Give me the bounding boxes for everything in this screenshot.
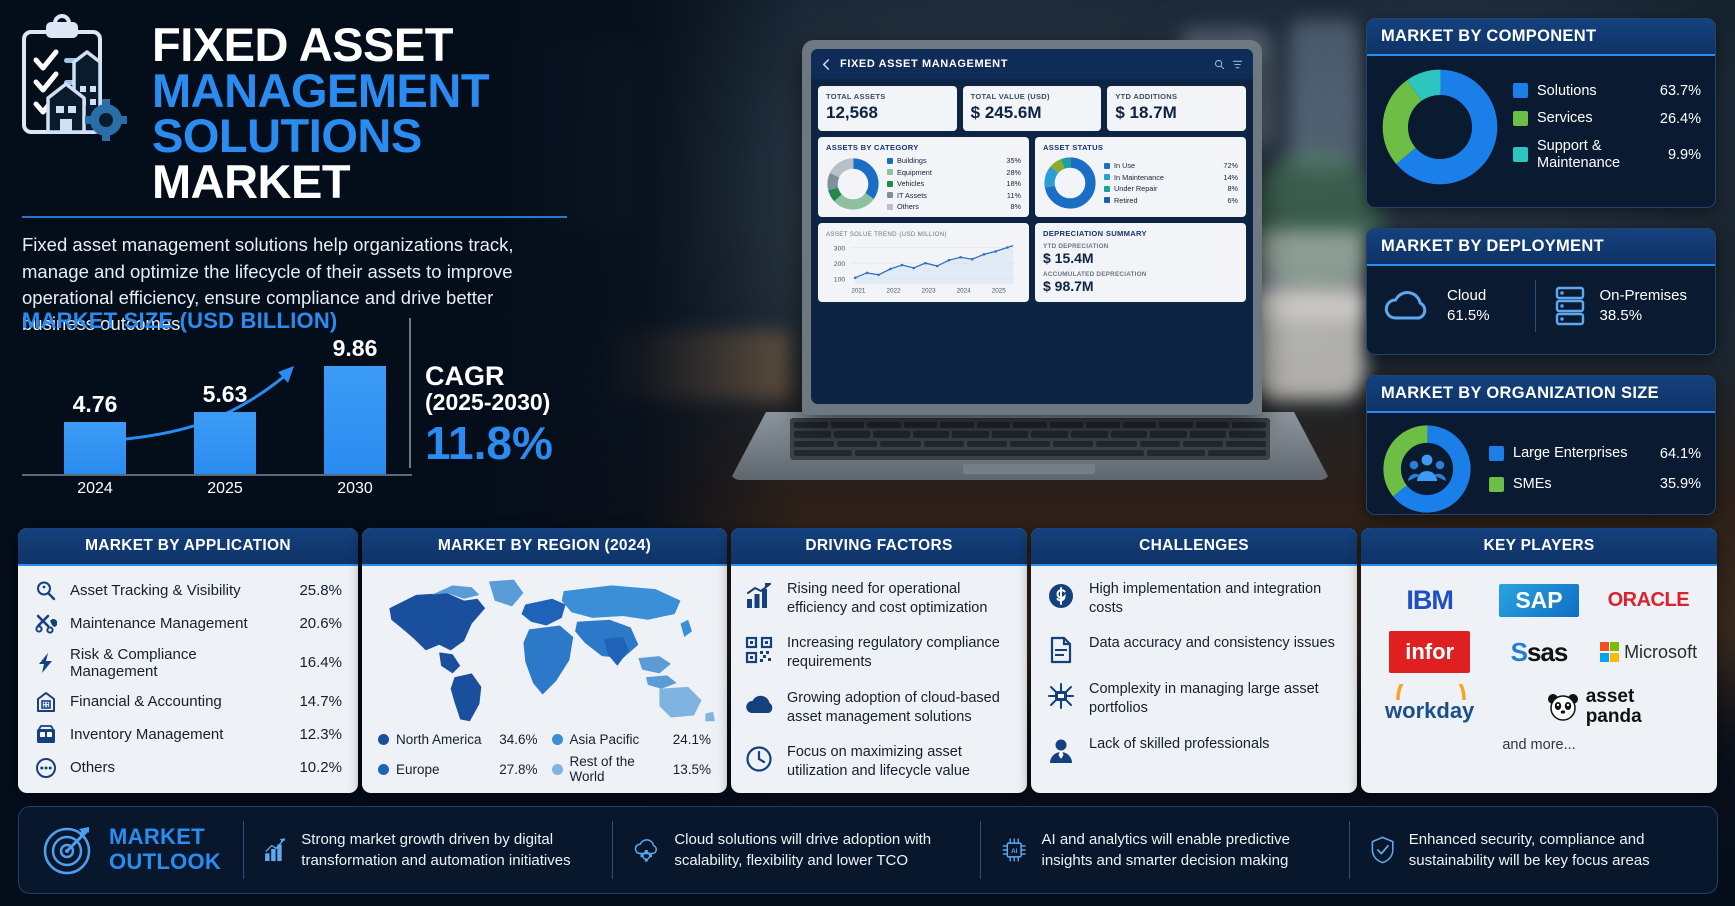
target-arrow-icon	[41, 823, 95, 877]
outlook-item: AI AI and analytics will enable predicti…	[981, 827, 1348, 873]
legend-value: 63.7%	[1660, 83, 1701, 99]
legend-item: Vehicles18%	[887, 179, 1021, 188]
challenge-row: Complexity in managing large asset portf…	[1047, 672, 1341, 726]
panel-title: ASSET STATUS	[1043, 143, 1238, 152]
legend-item: Support & Maintenance9.9%	[1513, 138, 1701, 171]
legend-item: Europe27.8%	[378, 754, 538, 784]
market-size-title: MARKET SIZE (USD BILLION)	[22, 308, 582, 334]
legend-value: 72%	[1223, 161, 1238, 170]
deployment-divider	[1535, 280, 1536, 332]
application-label: Risk & Compliance Management	[70, 646, 287, 680]
bank-building-icon	[34, 691, 58, 713]
outlook-text: Strong market growth driven by digital t…	[301, 829, 591, 872]
driving-factors-card: DRIVING FACTORS Rising need for operatio…	[731, 528, 1027, 793]
deployment-cloud: Cloud 61.5%	[1381, 286, 1531, 327]
trend-title-text: ASSET SOLUE TREND	[826, 231, 897, 238]
driving-factor-text: Growing adoption of cloud-based asset ma…	[787, 689, 1013, 727]
cagr-divider	[409, 318, 411, 468]
laptop-mockup: FIXED ASSET MANAGEMENT TOTAL ASSETS 12,5…	[720, 40, 1335, 490]
legend-label: In Use	[1114, 161, 1219, 170]
application-value: 12.3%	[299, 726, 342, 743]
outlook-brand-line2: OUTLOOK	[109, 850, 221, 875]
application-label: Maintenance Management	[70, 615, 287, 632]
legend-swatch	[1104, 174, 1110, 180]
legend-swatch	[378, 734, 389, 745]
svg-text:2022: 2022	[886, 287, 901, 294]
legend-value: 11%	[1007, 191, 1021, 200]
bar-2024	[64, 422, 126, 474]
legend-value: 8%	[1227, 184, 1238, 193]
world-map	[372, 570, 717, 728]
dashboard-body: TOTAL ASSETS 12,568 TOTAL VALUE (USD) $ …	[811, 79, 1253, 309]
challenge-text: Data accuracy and consistency issues	[1089, 634, 1341, 653]
application-row: Risk & Compliance Management 16.4%	[34, 640, 342, 685]
bar-2025	[194, 412, 256, 474]
assets-category-donut	[826, 157, 880, 211]
asset-value-trend-panel: ASSET SOLUE TREND (USD MILLION) 300 200 …	[818, 223, 1029, 302]
driving-factor-text: Increasing regulatory compliance require…	[787, 634, 1013, 672]
deployment-value: 61.5%	[1447, 306, 1490, 326]
trend-unit-text: (USD MILLION)	[899, 231, 947, 238]
laptop-keyboard	[790, 418, 1270, 460]
application-row: Maintenance Management 20.6%	[34, 607, 342, 640]
legend-item: In Maintenance14%	[1104, 173, 1238, 182]
logo-ibm: IBM	[1406, 585, 1453, 616]
legend-item: Equipment28%	[887, 168, 1021, 177]
market-size-chart: 4.76 2024 5.63 2025 9.86 2030	[22, 348, 422, 498]
svg-text:2025: 2025	[992, 287, 1007, 294]
application-row: Others 10.2%	[34, 751, 342, 784]
legend-label: Retired	[1114, 196, 1223, 205]
cagr-period: (2025-2030)	[425, 390, 553, 415]
card-title: MARKET BY DEPLOYMENT	[1367, 229, 1715, 266]
key-players-grid: IBM SAP ORACLE infor Ssas Microsoft work…	[1379, 578, 1699, 727]
bar-value-2030: 9.86	[324, 335, 386, 362]
application-row: Inventory Management 12.3%	[34, 718, 342, 751]
application-label: Financial & Accounting	[70, 693, 287, 710]
asset-status-legend: In Use72% In Maintenance14% Under Repair…	[1104, 161, 1238, 205]
challenge-text: Lack of skilled professionals	[1089, 735, 1341, 754]
legend-item: Services26.4%	[1513, 110, 1701, 127]
kpi-total-assets: TOTAL ASSETS 12,568	[818, 86, 957, 131]
market-by-deployment-card: MARKET BY DEPLOYMENT Cloud 61.5%	[1366, 228, 1716, 355]
legend-label: Buildings	[897, 156, 1002, 165]
legend-value: 13.5%	[673, 762, 711, 777]
dashboard-topbar: FIXED ASSET MANAGEMENT	[811, 49, 1253, 79]
header: FIXED ASSET MANAGEMENT SOLUTIONS MARKET …	[18, 14, 718, 337]
trend-line-chart: 300 200 100	[826, 238, 1021, 296]
network-nodes-icon	[1047, 680, 1077, 710]
logo-sas: Ssas	[1511, 637, 1568, 668]
driving-factor-row: Growing adoption of cloud-based asset ma…	[745, 681, 1013, 735]
logo-infor: infor	[1389, 631, 1470, 673]
outlook-text: Enhanced security, compliance and sustai…	[1409, 829, 1697, 872]
kpi-value: $ 245.6M	[971, 103, 1094, 123]
panel-title: ASSET SOLUE TREND (USD MILLION)	[826, 229, 1021, 238]
legend-label: Asia Pacific	[570, 732, 666, 747]
shield-check-icon	[1370, 826, 1395, 874]
people-group-icon	[1408, 451, 1446, 485]
legend-swatch	[552, 734, 563, 745]
application-value: 14.7%	[299, 693, 342, 710]
panda-icon	[1546, 692, 1580, 722]
ellipsis-circle-icon	[34, 757, 58, 779]
market-by-region-card: MARKET BY REGION (2024)	[362, 528, 727, 793]
legend-swatch	[1513, 111, 1528, 126]
cloud-gear-icon	[633, 828, 661, 872]
kpi-label: YTD ADDITIONS	[1115, 92, 1238, 101]
asset-status-panel: ASSET STATUS In Use72% In Maintenance14%	[1035, 137, 1246, 217]
card-title: MARKET BY ORGANIZATION SIZE	[1367, 376, 1715, 413]
logo-oracle: ORACLE	[1608, 589, 1689, 612]
kpi-label: TOTAL ASSETS	[826, 92, 949, 101]
svg-text:300: 300	[834, 245, 846, 252]
legend-label: Solutions	[1537, 83, 1651, 100]
outlook-item: Cloud solutions will drive adoption with…	[613, 828, 980, 872]
kpi-label: TOTAL VALUE (USD)	[971, 92, 1094, 101]
legend-label: IT Assets	[897, 191, 1003, 200]
svg-text:AI: AI	[1011, 848, 1018, 855]
panel-title: DEPRECIATION SUMMARY	[1043, 229, 1238, 238]
bar-value-2024: 4.76	[64, 391, 126, 418]
trend-panel-row: ASSET SOLUE TREND (USD MILLION) 300 200 …	[818, 223, 1246, 302]
kpi-ytd-additions: YTD ADDITIONS $ 18.7M	[1107, 86, 1246, 131]
legend-swatch	[887, 181, 893, 187]
legend-label: Equipment	[897, 168, 1002, 177]
chart-axis	[22, 474, 412, 476]
logo-microsoft: Microsoft	[1600, 642, 1698, 663]
card-title: MARKET BY APPLICATION	[18, 528, 358, 566]
legend-label: Europe	[396, 762, 492, 777]
challenge-row: Lack of skilled professionals	[1047, 727, 1341, 773]
legend-label: Services	[1537, 110, 1651, 127]
kpi-value: 12,568	[826, 103, 949, 123]
person-tie-icon	[1047, 735, 1077, 765]
svg-text:2024: 2024	[957, 287, 972, 294]
deployment-onprem: On-Premises 38.5%	[1540, 285, 1702, 327]
tools-wrench-screwdriver-icon	[34, 613, 58, 635]
legend-swatch	[887, 158, 893, 164]
accumulated-depreciation-label: ACCUMULATED DEPRECIATION	[1043, 271, 1238, 278]
page-title: FIXED ASSET MANAGEMENT SOLUTIONS MARKET	[152, 14, 718, 204]
legend-label: Rest of the World	[570, 754, 666, 784]
legend-label: Large Enterprises	[1513, 445, 1651, 462]
donut-panel-row: ASSETS BY CATEGORY Buildings35%	[818, 137, 1246, 217]
application-label: Others	[70, 759, 287, 776]
outlook-item: Enhanced security, compliance and sustai…	[1350, 826, 1717, 874]
legend-item: Solutions63.7%	[1513, 83, 1701, 100]
svg-text:2021: 2021	[851, 287, 866, 294]
legend-item: Retired6%	[1104, 196, 1238, 205]
cloud-icon	[1381, 286, 1435, 326]
title-line-3: MARKET	[152, 159, 718, 205]
legend-value: 35%	[1006, 156, 1021, 165]
legend-value: 26.4%	[1660, 111, 1701, 127]
legend-value: 35.9%	[1660, 476, 1701, 492]
component-legend: Solutions63.7% Services26.4% Support & M…	[1513, 83, 1701, 172]
key-players-more-text: and more...	[1379, 727, 1699, 753]
outlook-item: Strong market growth driven by digital t…	[244, 828, 611, 872]
driving-factor-text: Focus on maximizing asset utilization an…	[787, 743, 1013, 781]
bar-label-2024: 2024	[64, 480, 126, 498]
inventory-box-icon	[34, 724, 58, 746]
header-divider	[22, 216, 567, 218]
legend-label: SMEs	[1513, 476, 1651, 493]
bar-2030	[324, 366, 386, 474]
logo-workday: workday	[1385, 689, 1474, 724]
legend-item: IT Assets11%	[887, 191, 1021, 200]
deployment-value: 38.5%	[1600, 306, 1688, 326]
legend-value: 24.1%	[673, 732, 711, 747]
card-title: KEY PLAYERS	[1361, 528, 1717, 566]
legend-label: Vehicles	[897, 179, 1002, 188]
accumulated-depreciation-value: $ 98.7M	[1043, 278, 1238, 294]
application-row: Financial & Accounting 14.7%	[34, 685, 342, 718]
kpi-value: $ 18.7M	[1115, 103, 1238, 123]
legend-value: 9.9%	[1668, 147, 1701, 163]
qr-code-icon	[745, 634, 775, 664]
legend-value: 8%	[1010, 202, 1021, 211]
legend-label: In Maintenance	[1114, 173, 1219, 182]
legend-swatch	[887, 169, 893, 175]
market-by-application-card: MARKET BY APPLICATION Asset Tracking & V…	[18, 528, 358, 793]
cagr-value: 11.8%	[425, 418, 553, 469]
bar-label-2030: 2030	[324, 480, 386, 498]
application-value: 25.8%	[299, 582, 342, 599]
assets-category-legend: Buildings35% Equipment28% Vehicles18% IT…	[887, 156, 1021, 211]
legend-swatch	[1513, 147, 1528, 162]
server-icon	[1552, 285, 1588, 327]
legend-value: 14%	[1223, 173, 1238, 182]
magnifier-tag-icon	[34, 580, 58, 602]
dollar-coin-icon	[1047, 580, 1077, 610]
legend-label: Others	[897, 202, 1006, 211]
svg-text:2023: 2023	[922, 287, 937, 294]
legend-swatch	[1104, 163, 1110, 169]
bar-label-2025: 2025	[194, 480, 256, 498]
application-label: Inventory Management	[70, 726, 287, 743]
cloud-icon	[745, 689, 775, 717]
component-donut-chart	[1381, 68, 1499, 186]
svg-text:200: 200	[834, 261, 846, 268]
legend-value: 18%	[1006, 179, 1021, 188]
outlook-brand: MARKET OUTLOOK	[19, 823, 243, 877]
challenge-row: Data accuracy and consistency issues	[1047, 626, 1341, 672]
cagr-block: CAGR (2025-2030) 11.8%	[425, 362, 553, 468]
outlook-brand-line1: MARKET	[109, 825, 221, 850]
legend-value: 6%	[1227, 196, 1238, 205]
legend-value: 28%	[1006, 168, 1021, 177]
card-title: MARKET BY REGION (2024)	[362, 528, 727, 566]
legend-label: Under Repair	[1114, 184, 1223, 193]
challenges-card: CHALLENGES High implementation and integ…	[1031, 528, 1357, 793]
filter-icon[interactable]	[1232, 59, 1243, 70]
ytd-depreciation-label: YTD DEPRECIATION	[1043, 243, 1238, 250]
application-value: 10.2%	[299, 759, 342, 776]
title-line-1: FIXED ASSET	[152, 22, 718, 68]
legend-value: 27.8%	[499, 762, 537, 777]
clock-icon	[745, 743, 775, 773]
application-label: Asset Tracking & Visibility	[70, 582, 287, 599]
legend-swatch	[887, 192, 893, 198]
legend-item: North America34.6%	[378, 732, 538, 747]
market-outlook-bar: MARKET OUTLOOK Strong market growth driv…	[18, 806, 1718, 894]
legend-item: SMEs35.9%	[1489, 476, 1701, 493]
market-by-organization-size-card: MARKET BY ORGANIZATION SIZE Large Enter	[1366, 375, 1716, 515]
legend-swatch	[1489, 446, 1504, 461]
legend-item: Buildings35%	[887, 156, 1021, 165]
driving-factor-row: Rising need for operational efficiency a…	[745, 572, 1013, 626]
logo-sap: SAP	[1499, 584, 1578, 617]
svg-text:100: 100	[834, 277, 846, 284]
bar-growth-icon	[264, 828, 287, 872]
back-arrow-icon[interactable]	[821, 59, 832, 70]
challenge-row: High implementation and integration cost…	[1047, 572, 1341, 626]
outlook-text: AI and analytics will enable predictive …	[1042, 829, 1329, 872]
title-line-2: MANAGEMENT SOLUTIONS	[152, 68, 718, 159]
driving-factor-row: Focus on maximizing asset utilization an…	[745, 735, 1013, 789]
growth-chart-icon	[745, 580, 775, 610]
deployment-label: On-Premises	[1600, 286, 1688, 306]
kpi-total-value: TOTAL VALUE (USD) $ 245.6M	[963, 86, 1102, 131]
document-check-icon	[1047, 634, 1077, 664]
legend-value: 34.6%	[499, 732, 537, 747]
driving-factor-text: Rising need for operational efficiency a…	[787, 580, 1013, 618]
card-title: MARKET BY COMPONENT	[1367, 19, 1715, 56]
ytd-depreciation-value: $ 15.4M	[1043, 250, 1238, 266]
organization-legend: Large Enterprises64.1% SMEs35.9%	[1489, 445, 1701, 492]
legend-swatch	[1513, 83, 1528, 98]
legend-label: North America	[396, 732, 492, 747]
application-value: 16.4%	[299, 654, 342, 671]
legend-swatch	[552, 764, 563, 775]
market-by-component-card: MARKET BY COMPONENT Solutions63.7% Servi…	[1366, 18, 1716, 208]
legend-swatch	[1489, 477, 1504, 492]
legend-swatch	[378, 764, 389, 775]
application-value: 20.6%	[299, 615, 342, 632]
legend-value: 64.1%	[1660, 446, 1701, 462]
depreciation-summary-panel: DEPRECIATION SUMMARY YTD DEPRECIATION $ …	[1035, 223, 1246, 302]
logo-asset-panda: assetpanda	[1546, 687, 1642, 727]
cagr-label: CAGR	[425, 362, 553, 390]
legend-item: Large Enterprises64.1%	[1489, 445, 1701, 462]
application-row: Asset Tracking & Visibility 25.8%	[34, 574, 342, 607]
bar-value-2025: 5.63	[194, 381, 256, 408]
ai-chip-icon: AI	[1001, 827, 1027, 873]
legend-swatch	[887, 204, 893, 210]
assets-by-category-panel: ASSETS BY CATEGORY Buildings35%	[818, 137, 1029, 217]
panel-title: ASSETS BY CATEGORY	[826, 143, 1021, 152]
legend-label: Support & Maintenance	[1537, 138, 1659, 171]
challenge-text: High implementation and integration cost…	[1089, 580, 1341, 618]
clipboard-buildings-gear-icon	[18, 14, 138, 149]
search-icon[interactable]	[1214, 59, 1225, 70]
region-legend: North America34.6% Asia Pacific24.1% Eur…	[370, 728, 719, 784]
lightning-bolt-icon	[34, 652, 58, 674]
legend-item: Under Repair8%	[1104, 184, 1238, 193]
legend-item: Rest of the World13.5%	[552, 754, 712, 784]
dashboard-title: FIXED ASSET MANAGEMENT	[840, 58, 1008, 70]
asset-status-donut	[1043, 156, 1097, 210]
laptop-trackpad	[963, 464, 1095, 474]
driving-factor-row: Increasing regulatory compliance require…	[745, 626, 1013, 680]
key-players-card: KEY PLAYERS IBM SAP ORACLE infor Ssas Mi…	[1361, 528, 1717, 793]
laptop-lid: FIXED ASSET MANAGEMENT TOTAL ASSETS 12,5…	[802, 40, 1262, 415]
challenge-text: Complexity in managing large asset portf…	[1089, 680, 1341, 718]
legend-item: Asia Pacific24.1%	[552, 732, 712, 747]
deployment-label: Cloud	[1447, 286, 1490, 306]
outlook-text: Cloud solutions will drive adoption with…	[674, 829, 960, 872]
kpi-row: TOTAL ASSETS 12,568 TOTAL VALUE (USD) $ …	[818, 86, 1246, 131]
legend-swatch	[1104, 186, 1110, 192]
legend-item: In Use72%	[1104, 161, 1238, 170]
dashboard-screen: FIXED ASSET MANAGEMENT TOTAL ASSETS 12,5…	[811, 49, 1253, 404]
card-title: DRIVING FACTORS	[731, 528, 1027, 566]
legend-item: Others8%	[887, 202, 1021, 211]
card-title: CHALLENGES	[1031, 528, 1357, 566]
legend-swatch	[1104, 197, 1110, 203]
